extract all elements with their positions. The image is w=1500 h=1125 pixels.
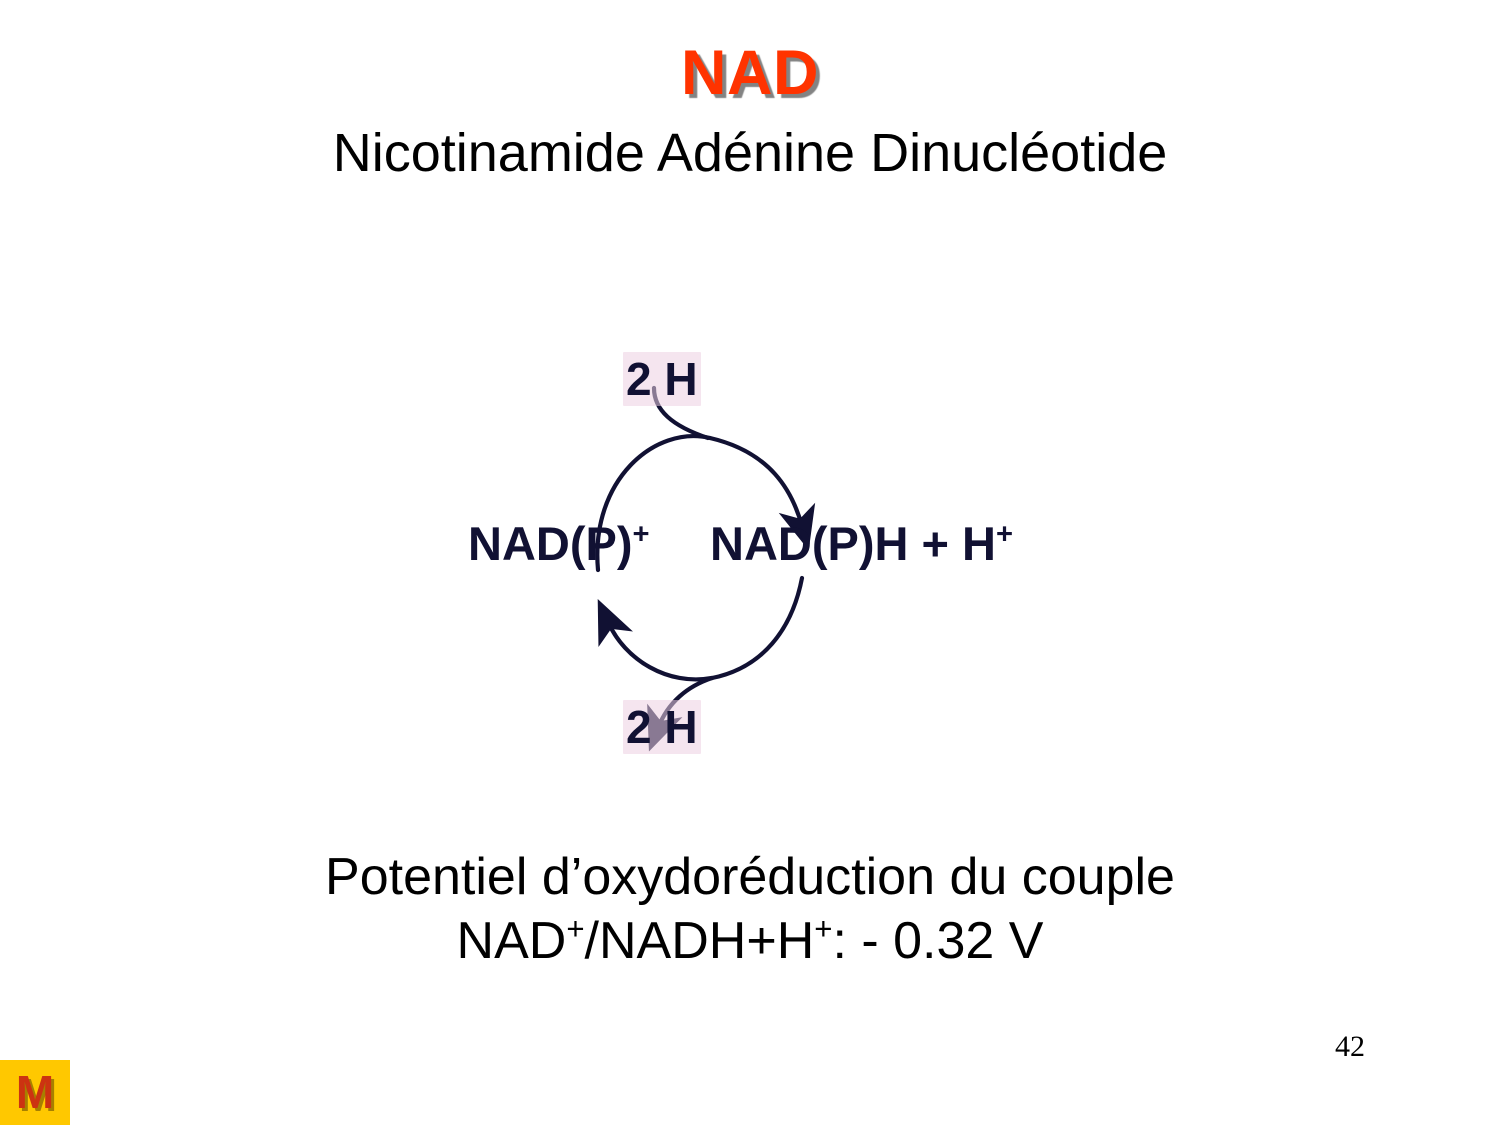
figure-label-nadph-reduced: NAD(P)H + H+	[710, 516, 1013, 571]
slide-canvas: NAD Nicotinamide Adénine Dinucléotide 2 …	[0, 0, 1500, 1125]
caption-line-2-suffix: : - 0.32 V	[832, 912, 1043, 970]
corner-logo: M	[0, 1060, 70, 1125]
logo-letter-m: M	[16, 1069, 54, 1115]
figure-label-nadp-oxidized: NAD(P)+	[468, 516, 650, 571]
figure-label-nadp-oxidized-base: NAD(P)	[468, 517, 632, 570]
caption-line-2-sup-2: +	[814, 912, 832, 947]
caption-line-2: NAD+/NADH+H+: - 0.32 V	[0, 909, 1500, 973]
figure-label-nadph-reduced-charge: +	[996, 518, 1013, 550]
figure-label-nadph-reduced-base: NAD(P)H + H	[710, 517, 996, 570]
nad-cycle-figure: 2 H 2 H NAD(P)+ NAD(P)H + H+	[440, 330, 1080, 780]
oxidation-arc-left	[608, 622, 712, 679]
figure-label-nadp-oxidized-charge: +	[632, 518, 649, 550]
caption-line-2-prefix: NAD	[457, 912, 567, 970]
figure-label-bottom-2h-text: 2 H	[623, 700, 701, 754]
figure-label-bottom-2h: 2 H	[623, 700, 701, 754]
redox-potential-caption: Potentiel d’oxydoréduction du couple NAD…	[0, 845, 1500, 973]
reduction-arc-right	[710, 438, 802, 526]
page-number: 42	[1335, 1030, 1365, 1064]
page-subtitle: Nicotinamide Adénine Dinucléotide	[0, 122, 1500, 184]
caption-line-2-mid: /NADH+H	[585, 912, 815, 970]
caption-line-2-sup-1: +	[566, 912, 584, 947]
page-title: NAD	[0, 40, 1500, 106]
caption-line-1: Potentiel d’oxydoréduction du couple	[0, 845, 1500, 909]
oxidation-arc-right	[712, 578, 802, 678]
figure-label-top-2h: 2 H	[623, 352, 701, 406]
figure-label-top-2h-text: 2 H	[623, 352, 701, 406]
